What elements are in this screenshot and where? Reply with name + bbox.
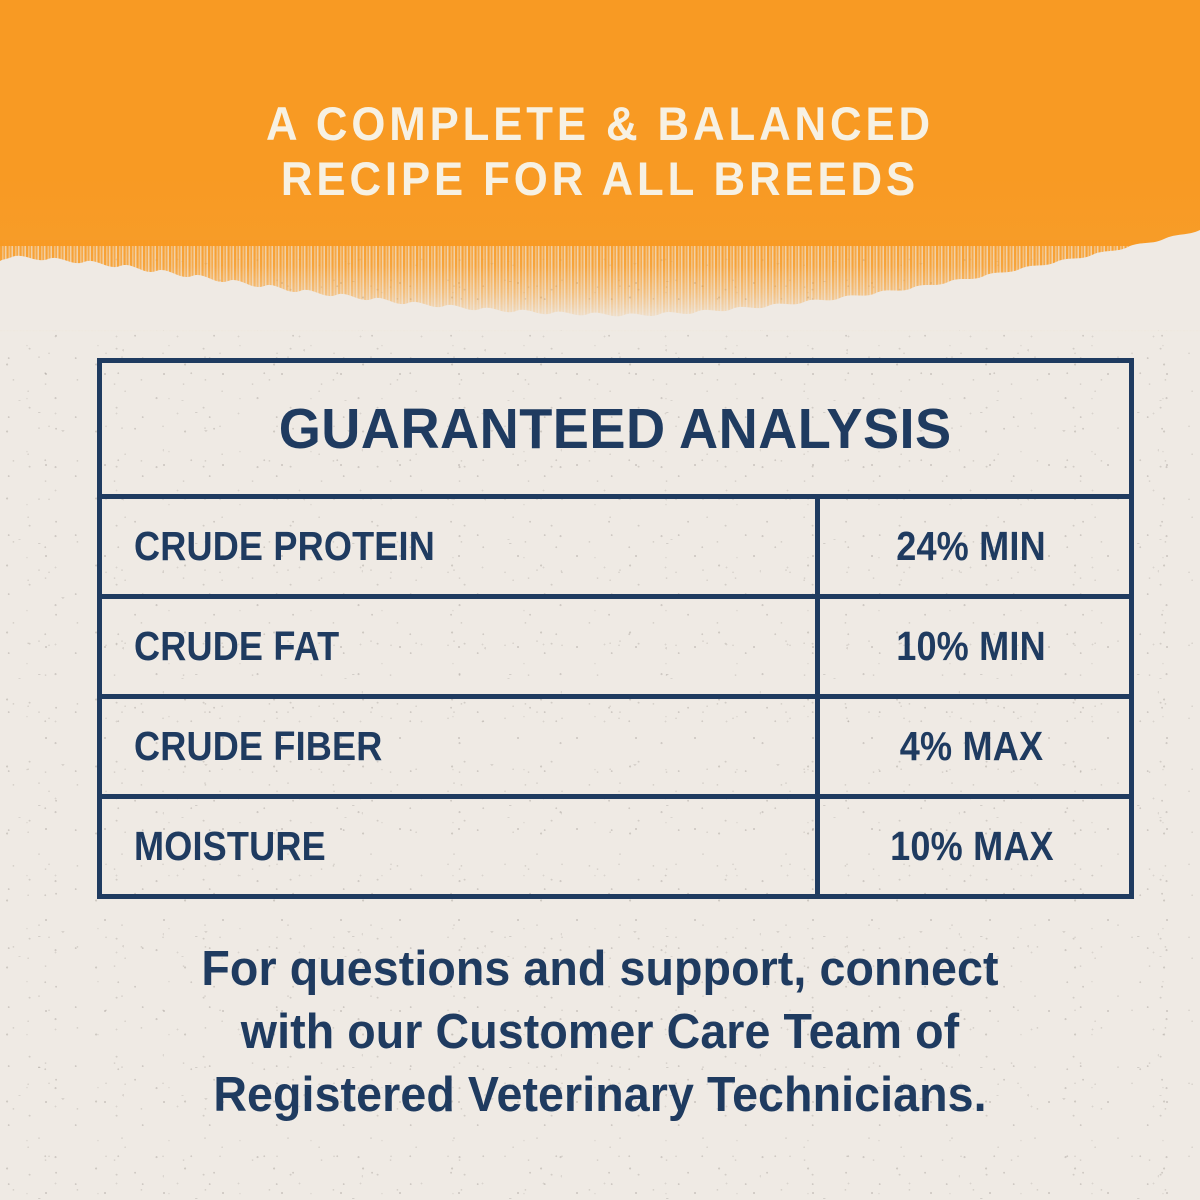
table-row: CRUDE PROTEIN 24% MIN — [102, 499, 1129, 599]
nutrient-value: 10% MAX — [890, 823, 1054, 870]
nutrient-value: 24% MIN — [897, 523, 1047, 570]
table-title-row: GUARANTEED ANALYSIS — [102, 363, 1129, 499]
nutrient-value: 4% MAX — [900, 723, 1043, 770]
table-row: CRUDE FIBER 4% MAX — [102, 699, 1129, 799]
nutrient-label: CRUDE PROTEIN — [134, 523, 435, 570]
nutrient-value-cell: 24% MIN — [820, 499, 1129, 594]
nutrient-label-cell: CRUDE FAT — [102, 599, 820, 694]
table-row: CRUDE FAT 10% MIN — [102, 599, 1129, 699]
support-message-line-1: For questions and support, connect — [87, 938, 1113, 1001]
support-message-line-2: with our Customer Care Team of — [87, 1001, 1113, 1064]
nutrient-value-cell: 4% MAX — [820, 699, 1129, 794]
nutrient-value: 10% MIN — [897, 623, 1047, 670]
nutrient-label: MOISTURE — [134, 823, 326, 870]
support-message: For questions and support, connect with … — [87, 938, 1113, 1127]
nutrient-value-cell: 10% MIN — [820, 599, 1129, 694]
nutrient-label-cell: CRUDE PROTEIN — [102, 499, 820, 594]
table-row: MOISTURE 10% MAX — [102, 799, 1129, 894]
guaranteed-analysis-table: GUARANTEED ANALYSIS CRUDE PROTEIN 24% MI… — [97, 358, 1134, 899]
headline: A COMPLETE & BALANCED RECIPE FOR ALL BRE… — [42, 96, 1158, 206]
orange-torn-edge — [0, 230, 1200, 330]
nutrient-value-cell: 10% MAX — [820, 799, 1129, 894]
product-label-panel: A COMPLETE & BALANCED RECIPE FOR ALL BRE… — [0, 0, 1200, 1200]
table-title: GUARANTEED ANALYSIS — [279, 396, 952, 462]
nutrient-label-cell: MOISTURE — [102, 799, 820, 894]
support-message-line-3: Registered Veterinary Technicians. — [87, 1064, 1113, 1127]
nutrient-label: CRUDE FIBER — [134, 723, 382, 770]
headline-line-1: A COMPLETE & BALANCED — [42, 96, 1158, 151]
nutrient-label-cell: CRUDE FIBER — [102, 699, 820, 794]
headline-line-2: RECIPE FOR ALL BREEDS — [42, 151, 1158, 206]
nutrient-label: CRUDE FAT — [134, 623, 339, 670]
